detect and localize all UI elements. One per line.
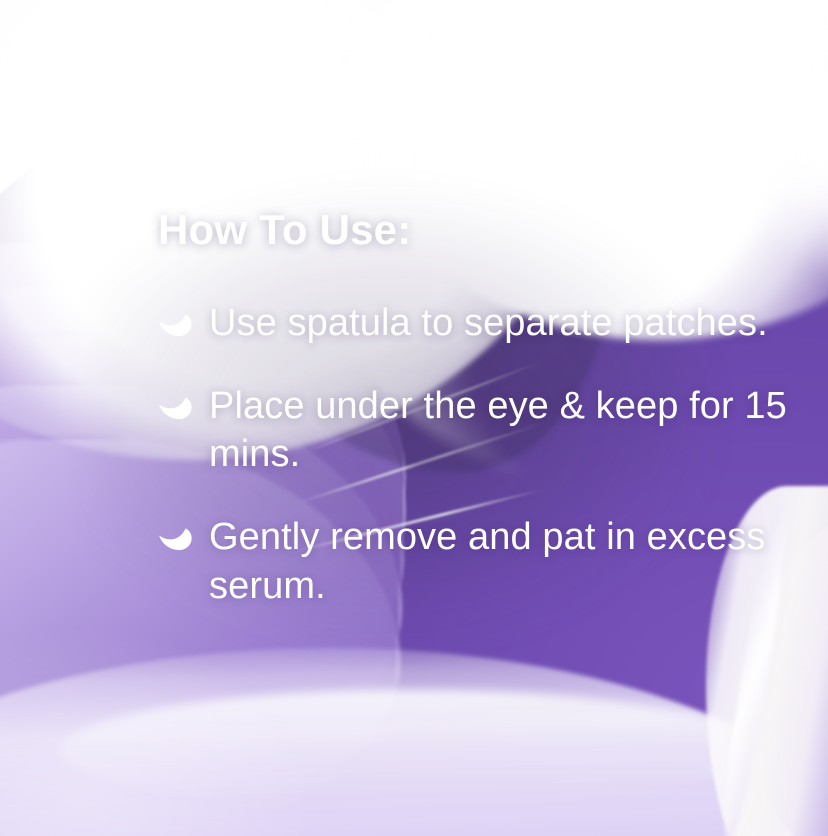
- list-item-label: Place under the eye & keep for 15 mins.: [209, 382, 798, 479]
- eye-patch-bullet-icon: [158, 311, 192, 337]
- list-item-label: Gently remove and pat in excess serum.: [209, 513, 798, 610]
- eye-patch-bullet-icon: [158, 394, 192, 420]
- steps-list: Use spatula to separate patches. Place u…: [158, 299, 798, 610]
- page-title: How To Use:: [158, 206, 798, 253]
- list-item-label: Use spatula to separate patches.: [209, 299, 768, 348]
- list-item: Use spatula to separate patches.: [158, 299, 798, 348]
- list-item: Gently remove and pat in excess serum.: [158, 513, 798, 610]
- how-to-use-card: How To Use: Use spatula to separate patc…: [0, 0, 828, 836]
- list-item: Place under the eye & keep for 15 mins.: [158, 382, 798, 479]
- instructions-block: How To Use: Use spatula to separate patc…: [158, 206, 798, 610]
- eye-patch-bullet-icon: [158, 525, 192, 551]
